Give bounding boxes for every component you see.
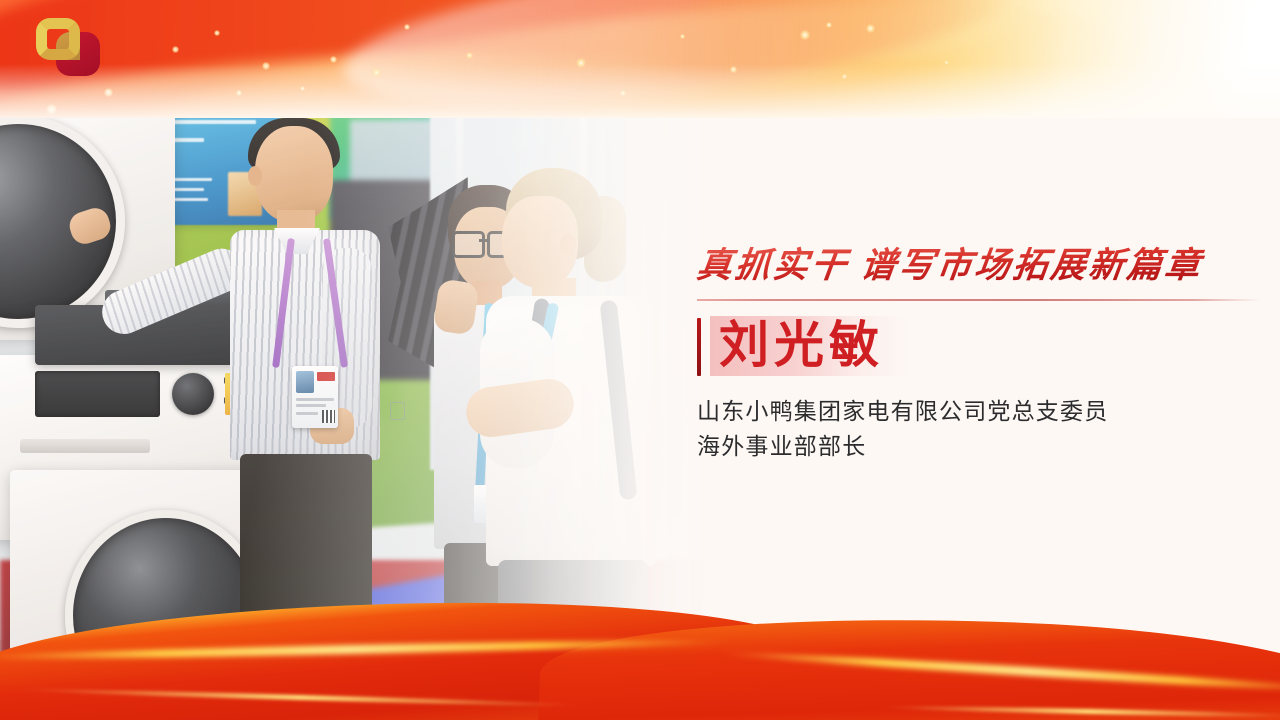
- sparkle-particle: [866, 24, 875, 33]
- caption-panel: 真抓实干 谱写市场拓展新篇章 刘光敏 山东小鸭集团家电有限公司党总支委员 海外事…: [697, 246, 1262, 464]
- top-ribbon-banner: [0, 0, 1280, 118]
- company-logo[interactable]: [36, 18, 100, 76]
- sparkle-particle: [172, 46, 179, 53]
- sparkle-particle: [826, 22, 832, 28]
- sparkle-particle: [800, 30, 810, 40]
- speaker-title: 山东小鸭集团家电有限公司党总支委员 海外事业部部长: [697, 394, 1262, 464]
- speaker-title-line-1: 山东小鸭集团家电有限公司党总支委员: [697, 394, 1262, 429]
- speaker-title-line-2: 海外事业部部长: [697, 429, 1262, 464]
- name-accent-bar: [697, 318, 701, 376]
- speaker-name: 刘光敏: [719, 315, 884, 375]
- sparkle-particle: [330, 56, 337, 63]
- sparkle-particle: [404, 24, 410, 30]
- slide-canvas: 真抓实干 谱写市场拓展新篇章 刘光敏 山东小鸭集团家电有限公司党总支委员 海外事…: [0, 0, 1280, 720]
- sparkle-particle: [214, 30, 220, 36]
- banner-bottom-fade: [0, 64, 1280, 118]
- speaker-name-row: 刘光敏: [697, 316, 1262, 378]
- logo-gold-square-icon: [36, 18, 80, 60]
- sparkle-particle: [680, 34, 685, 39]
- sparkle-particle: [466, 52, 473, 59]
- headline-divider: [697, 299, 1260, 301]
- headline-slogan: 真抓实干 谱写市场拓展新篇章: [695, 246, 1265, 285]
- bottom-ribbon-banner: [0, 602, 1280, 720]
